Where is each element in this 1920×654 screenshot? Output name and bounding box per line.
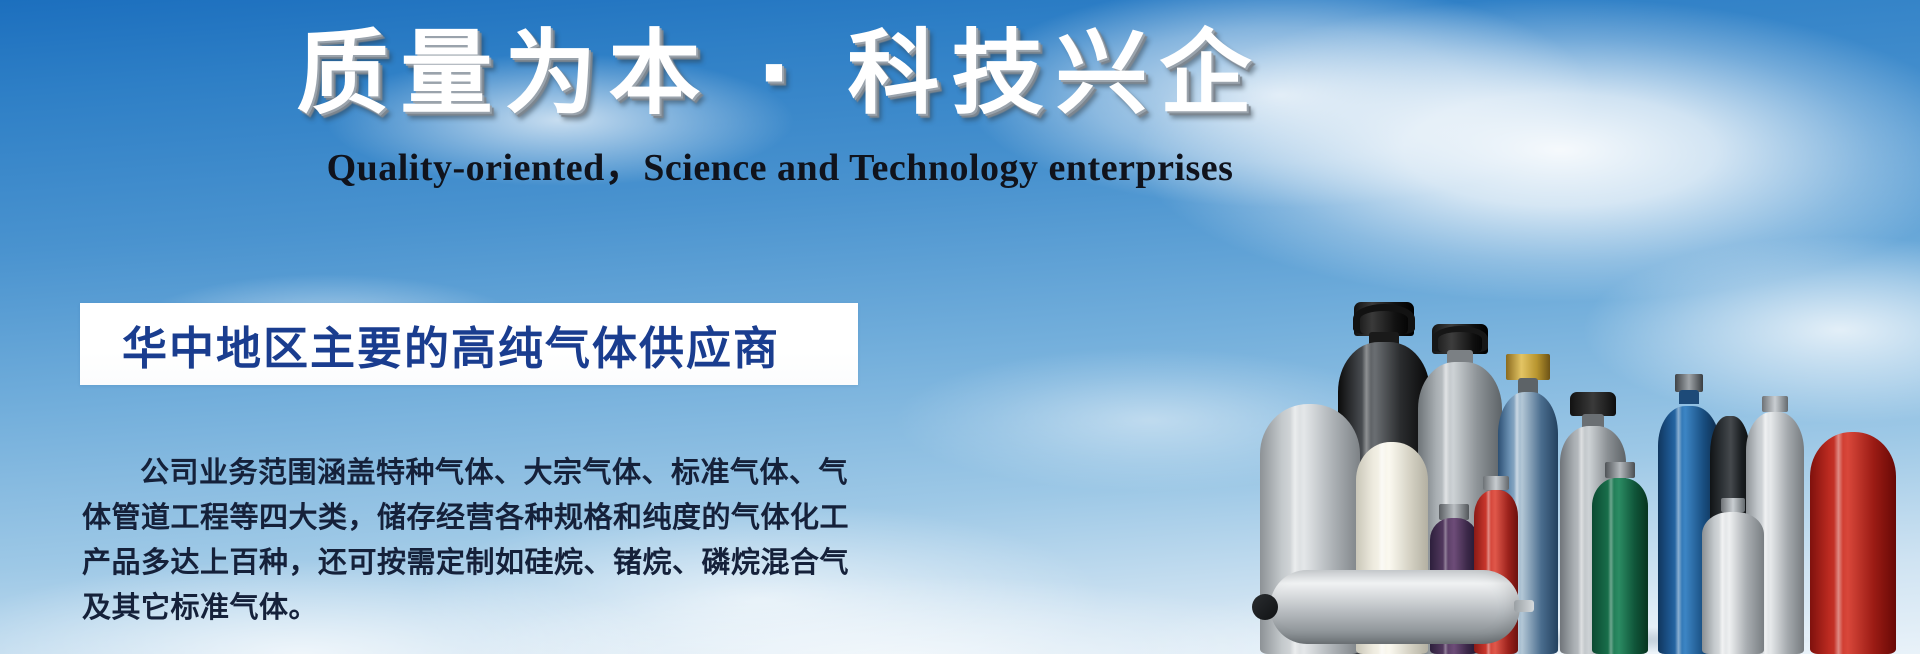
cylinder-handle-icon [1353,304,1415,334]
company-description-paragraph: 公司业务范围涵盖特种气体、大宗气体、标准气体、气体管道工程等四大类，储存经营各种… [82,450,872,630]
horizontal-gas-tank [1270,570,1520,644]
page-subtitle: Quality-oriented，Science and Technology … [0,136,1560,191]
cylinder-valve-icon [1506,354,1550,380]
cylinder-valve-icon [1721,498,1745,512]
cylinder-valve-icon [1483,476,1509,490]
cylinder-red-large [1810,432,1896,654]
headline-group: 质量为本 · 科技兴企 Quality-oriented，Science and… [0,18,1560,191]
tank-nozzle-icon [1514,600,1534,612]
gas-cylinder-group-image [1260,234,1920,654]
cylinder-highlight [1834,432,1843,654]
tagline-text: 华中地区主要的高纯气体供应商 [80,312,780,377]
cylinder-body [1592,478,1648,654]
cylinder-valve-icon [1605,462,1635,478]
cylinder-green [1592,462,1648,654]
cylinder-neck [1679,390,1699,404]
promotional-banner: 质量为本 · 科技兴企 Quality-oriented，Science and… [0,0,1920,654]
cylinder-aluminium-short [1702,498,1764,654]
page-title: 质量为本 · 科技兴企 [0,18,1560,130]
cylinder-valve-icon [1762,396,1788,412]
cylinder-highlight [1608,478,1614,654]
tank-valve-icon [1252,594,1278,620]
cylinder-highlight [1719,512,1726,654]
cylinder-highlight [1578,426,1585,654]
tank-body [1270,570,1520,644]
cylinder-cap-icon [1570,392,1616,416]
cylinder-body [1810,432,1896,654]
cylinder-handle-icon [1432,326,1488,352]
tagline-box: 华中地区主要的高纯气体供应商 [80,303,858,385]
cylinder-body [1702,512,1764,654]
cylinder-highlight [1675,406,1682,654]
